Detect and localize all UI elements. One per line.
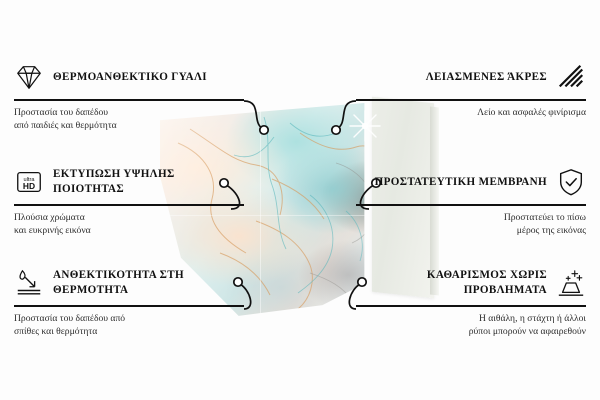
feature-easy-cleaning: ΚΑΘΑΡΙΣΜΟΣ ΧΩΡΙΣ ΠΡΟΒΛΗΜΑΤΑ Η αιθάλη, η …: [356, 264, 586, 339]
feature-header: ΚΑΘΑΡΙΣΜΟΣ ΧΩΡΙΣ ΠΡΟΒΛΗΜΑΤΑ: [356, 264, 586, 302]
feature-subtitle: Προστασία του δαπέδου από παιδιές και θε…: [14, 106, 244, 133]
feature-polished-edges: ΛΕΙΑΣΜΕΝΕΣ ΆΚΡΕΣ Λείο και ασφαλές φινίρι…: [356, 58, 586, 119]
feature-subtitle-line2: και ευκρινής εικόνα: [14, 224, 244, 238]
ultra-hd-bottom-text: HD: [23, 181, 35, 191]
feature-subtitle-line2: ρύποι μπορούν να αφαιρεθούν: [356, 325, 586, 339]
feature-protective-membrane: ΠΡΟΣΤΑΤΕΥΤΙΚΗ ΜΕΜΒΡΑΝΗ Προστατεύει το πί…: [356, 163, 586, 238]
shield-check-icon: [556, 167, 586, 197]
feature-title: ΘΕΡΜΟΑΝΘΕΚΤΙΚΟ ΓΥΑΛΙ: [53, 70, 207, 85]
feature-header: ΛΕΙΑΣΜΕΝΕΣ ΆΚΡΕΣ: [356, 58, 586, 96]
feature-rule: [14, 305, 244, 307]
feature-title: ΚΑΘΑΡΙΣΜΟΣ ΧΩΡΙΣ ΠΡΟΒΛΗΜΑΤΑ: [356, 268, 547, 297]
feature-subtitle: Η αιθάλη, η στάχτη ή άλλοι ρύποι μπορούν…: [356, 312, 586, 339]
feature-header: ΠΡΟΣΤΑΤΕΥΤΙΚΗ ΜΕΜΒΡΑΝΗ: [356, 163, 586, 201]
feature-subtitle: Προστασία του δαπέδου από σπίθες και θερ…: [14, 312, 244, 339]
feature-header: ultra HD ΕΚΤΥΠΩΣΗ ΥΨΗΛΗΣ ΠΟΙΟΤΗΤΑΣ: [14, 163, 244, 201]
feature-subtitle-line1: Η αιθάλη, η στάχτη ή άλλοι: [356, 312, 586, 326]
feature-subtitle: Προστατεύει το πίσω μέρος της εικόνας: [356, 211, 586, 238]
feature-header: ΘΕΡΜΟΑΝΘΕΚΤΙΚΟ ΓΥΑΛΙ: [14, 58, 244, 96]
feature-rule: [356, 204, 586, 206]
feature-header: ΑΝΘΕΚΤΙΚΟΤΗΤΑ ΣΤΗ ΘΕΡΜΟΤΗΤΑ: [14, 264, 244, 302]
sponge-sparkle-icon: [556, 268, 586, 298]
feature-rule: [14, 204, 244, 206]
feature-high-quality-print: ultra HD ΕΚΤΥΠΩΣΗ ΥΨΗΛΗΣ ΠΟΙΟΤΗΤΑΣ Πλούσ…: [14, 163, 244, 238]
feature-title: ΠΡΟΣΤΑΤΕΥΤΙΚΗ ΜΕΜΒΡΑΝΗ: [375, 175, 547, 190]
polished-edge-icon: [556, 62, 586, 92]
feature-rule: [356, 99, 586, 101]
feature-rule: [356, 305, 586, 307]
infographic-canvas: ΘΕΡΜΟΑΝΘΕΚΤΙΚΟ ΓΥΑΛΙ Προστασία του δαπέδ…: [0, 0, 600, 400]
feature-heat-durability: ΑΝΘΕΚΤΙΚΟΤΗΤΑ ΣΤΗ ΘΕΡΜΟΤΗΤΑ Προστασία το…: [14, 264, 244, 339]
feature-title: ΕΚΤΥΠΩΣΗ ΥΨΗΛΗΣ ΠΟΙΟΤΗΤΑΣ: [53, 167, 244, 196]
feature-subtitle-line2: από παιδιές και θερμότητα: [14, 119, 244, 133]
feature-subtitle: Λείο και ασφαλές φινίρισμα: [356, 106, 586, 120]
feature-subtitle: Πλούσια χρώματα και ευκρινής εικόνα: [14, 211, 244, 238]
feature-heat-resistant-glass: ΘΕΡΜΟΑΝΘΕΚΤΙΚΟ ΓΥΑΛΙ Προστασία του δαπέδ…: [14, 58, 244, 133]
feature-title: ΑΝΘΕΚΤΙΚΟΤΗΤΑ ΣΤΗ ΘΕΡΜΟΤΗΤΑ: [53, 268, 244, 297]
feature-subtitle-line2: σπίθες και θερμότητα: [14, 325, 244, 339]
feature-subtitle-line1: Προστασία του δαπέδου από: [14, 312, 244, 326]
feature-rule: [14, 99, 244, 101]
flame-deflect-icon: [14, 268, 44, 298]
feature-subtitle-line1: Προστασία του δαπέδου: [14, 106, 244, 120]
feature-subtitle-line1: Πλούσια χρώματα: [14, 211, 244, 225]
feature-subtitle-line1: Προστατεύει το πίσω: [356, 211, 586, 225]
ultra-hd-badge-icon: ultra HD: [14, 167, 44, 197]
feature-title: ΛΕΙΑΣΜΕΝΕΣ ΆΚΡΕΣ: [426, 70, 547, 85]
feature-subtitle-line2: μέρος της εικόνας: [356, 224, 586, 238]
diamond-icon: [14, 62, 44, 92]
feature-subtitle-line1: Λείο και ασφαλές φινίρισμα: [356, 106, 586, 120]
